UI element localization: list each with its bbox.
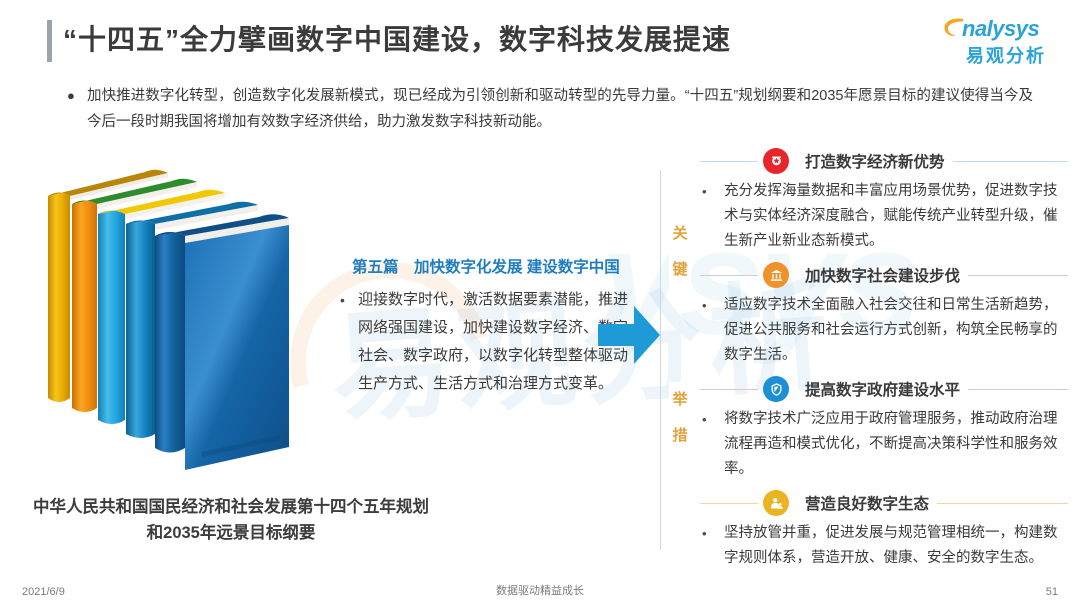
vertical-divider — [660, 170, 661, 550]
section-body: • 适应数字技术全面融入社会交往和日常生活新趋势，促进公共服务和社会运行方式创新… — [700, 293, 1068, 368]
slide-root: ysys 易观分析 “十四五”全力擘画数字中国建设，数字科技发展提速 nalys… — [0, 0, 1080, 608]
middle-heading: 第五篇 加快数字化发展 建设数字中国 — [352, 255, 620, 277]
section-rule-right — [953, 161, 1068, 162]
person-group-icon — [763, 490, 789, 516]
books-illustration — [42, 152, 317, 487]
vertical-label-char-2: 键 — [669, 252, 691, 288]
section-bullet: • — [702, 407, 724, 482]
section-rule-right — [968, 389, 1068, 390]
vertical-label-char-4: 措 — [669, 418, 691, 454]
section-title: 营造良好数字生态 — [805, 492, 929, 514]
middle-body: • 迎接数字时代，激活数据要素潜能，推进网络强国建设，加快建设数字经济、数字社会… — [340, 286, 640, 398]
vertical-label-char-3: 举 — [669, 382, 691, 418]
section-header: 提高数字政府建设水平 — [700, 374, 1068, 404]
section-title: 加快数字社会建设步伐 — [805, 264, 960, 286]
section-text: 将数字技术广泛应用于政府管理服务，推动政府治理流程再造和模式优化，不断提高决策科… — [724, 407, 1068, 482]
footer-slogan: 数据驱动精益成长 — [0, 582, 1080, 598]
vertical-label-char-1: 关 — [669, 216, 691, 252]
section-rule-left — [700, 503, 758, 504]
section-bullet: • — [702, 293, 724, 368]
books-caption: 中华人民共和国国民经济和社会发展第十四个五年规划和2035年远景目标纲要 — [26, 494, 436, 546]
section-bullet: • — [702, 179, 724, 254]
lead-bullet: ● — [63, 83, 87, 135]
logo-chinese: 易观分析 — [966, 42, 1046, 68]
analysys-logo: nalysys 易观分析 — [940, 14, 1062, 66]
shield-icon — [763, 376, 789, 402]
section-rule-left — [700, 275, 758, 276]
section-text: 充分发挥海量数据和丰富应用场景优势，促进数字技术与实体经济深度融合，赋能传统产业… — [724, 179, 1068, 254]
section-text: 适应数字技术全面融入社会交往和日常生活新趋势，促进公共服务和社会运行方式创新，构… — [724, 293, 1068, 368]
section-rule-left — [700, 389, 758, 390]
section-item: 打造数字经济新优势 • 充分发挥海量数据和丰富应用场景优势，促进数字技术与实体经… — [700, 146, 1068, 254]
middle-bullet: • — [340, 286, 358, 398]
section-header: 打造数字经济新优势 — [700, 146, 1068, 176]
section-item: 加快数字社会建设步伐 • 适应数字技术全面融入社会交往和日常生活新趋势，促进公共… — [700, 260, 1068, 368]
section-title: 打造数字经济新优势 — [805, 150, 945, 172]
sections-list: 打造数字经济新优势 • 充分发挥海量数据和丰富应用场景优势，促进数字技术与实体经… — [700, 146, 1068, 577]
right-arrow-icon — [598, 306, 660, 364]
section-body: • 将数字技术广泛应用于政府管理服务，推动政府治理流程再造和模式优化，不断提高决… — [700, 407, 1068, 482]
section-text: 坚持放管并重，促进发展与规范管理相统一，构建数字规则体系，营造开放、健康、安全的… — [724, 521, 1068, 571]
section-header: 营造良好数字生态 — [700, 488, 1068, 518]
logo-wordmark: nalysys — [962, 16, 1039, 42]
section-bullet: • — [702, 521, 724, 571]
footer-page-number: 51 — [1046, 586, 1058, 598]
page-title: “十四五”全力擘画数字中国建设，数字科技发展提速 — [63, 18, 731, 58]
lead-text: 加快推进数字化转型，创造数字化发展新模式，现已经成为引领创新和驱动转型的先导力量… — [87, 83, 1033, 135]
section-rule-right — [968, 275, 1068, 276]
title-accent-bar — [47, 20, 52, 62]
medal-icon — [763, 148, 789, 174]
section-body: • 坚持放管并重，促进发展与规范管理相统一，构建数字规则体系，营造开放、健康、安… — [700, 521, 1068, 571]
section-rule-right — [937, 503, 1068, 504]
section-item: 提高数字政府建设水平 • 将数字技术广泛应用于政府管理服务，推动政府治理流程再造… — [700, 374, 1068, 482]
section-header: 加快数字社会建设步伐 — [700, 260, 1068, 290]
section-body: • 充分发挥海量数据和丰富应用场景优势，促进数字技术与实体经济深度融合，赋能传统… — [700, 179, 1068, 254]
section-title: 提高数字政府建设水平 — [805, 378, 960, 400]
section-item: 营造良好数字生态 • 坚持放管并重，促进发展与规范管理相统一，构建数字规则体系，… — [700, 488, 1068, 571]
section-rule-left — [700, 161, 758, 162]
lead-paragraph: ● 加快推进数字化转型，创造数字化发展新模式，现已经成为引领创新和驱动转型的先导… — [63, 83, 1033, 135]
bank-building-icon — [763, 262, 789, 288]
